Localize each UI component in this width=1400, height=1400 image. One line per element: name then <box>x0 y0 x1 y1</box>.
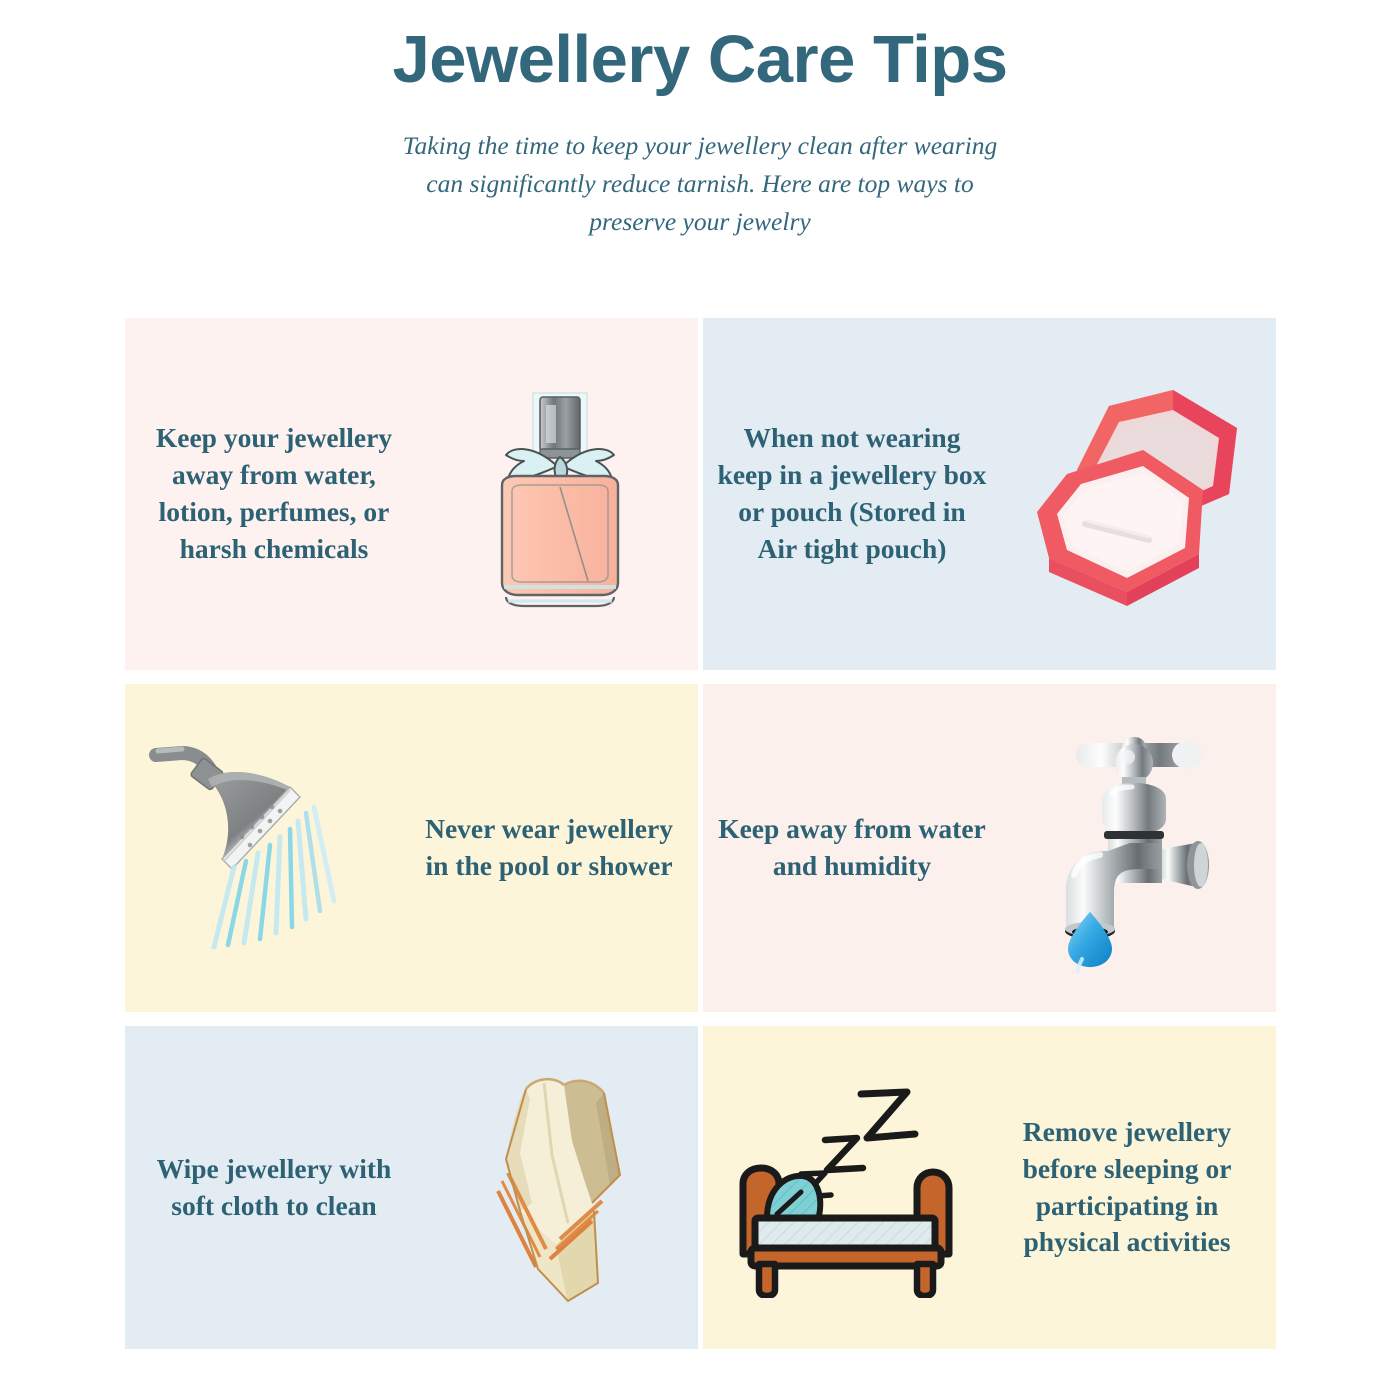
tip-card-wipe-cloth[interactable]: Wipe jewellery with soft cloth to clean <box>125 1026 698 1349</box>
infographic-page: Jewellery Care Tips Taking the time to k… <box>0 0 1400 1400</box>
tip-card-store-in-box[interactable]: When not wearing keep in a jewellery box… <box>703 318 1276 670</box>
soft-cloth-icon <box>423 1026 698 1349</box>
tip-card-text: Keep away from water and humidity <box>703 811 1001 885</box>
perfume-bottle-icon <box>423 318 698 670</box>
bed-sleeping-icon <box>703 1026 978 1349</box>
tip-card-text: When not wearing keep in a jewellery box… <box>703 420 1001 567</box>
ring-box-icon <box>1001 318 1276 670</box>
tip-card-text: Wipe jewellery with soft cloth to clean <box>125 1151 423 1225</box>
faucet-drip-icon <box>1001 684 1276 1012</box>
tips-grid: Keep your jewellery away from water, lot… <box>125 318 1276 1349</box>
page-subtitle: Taking the time to keep your jewellery c… <box>390 127 1010 240</box>
tip-card-avoid-humidity[interactable]: Keep away from water and humidity <box>703 684 1276 1012</box>
header: Jewellery Care Tips Taking the time to k… <box>0 0 1400 240</box>
tip-card-avoid-chemicals[interactable]: Keep your jewellery away from water, lot… <box>125 318 698 670</box>
tip-card-text: Keep your jewellery away from water, lot… <box>125 420 423 567</box>
tip-card-text: Remove jewellery before sleeping or part… <box>978 1114 1276 1261</box>
tip-card-remove-before-sleep[interactable]: Remove jewellery before sleeping or part… <box>703 1026 1276 1349</box>
shower-head-icon <box>125 684 400 1012</box>
tip-card-no-pool-shower[interactable]: Never wear jewellery in the pool or show… <box>125 684 698 1012</box>
page-title: Jewellery Care Tips <box>0 22 1400 97</box>
tip-card-text: Never wear jewellery in the pool or show… <box>400 811 698 885</box>
